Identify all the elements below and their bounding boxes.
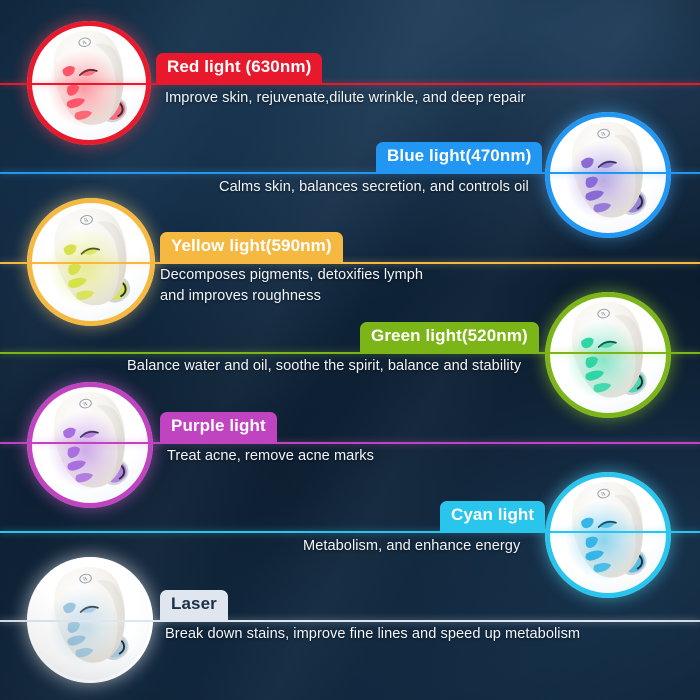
section-divider-yellow-light bbox=[0, 262, 700, 264]
mask-ring bbox=[27, 382, 153, 508]
light-label-purple-light: Purple light bbox=[160, 412, 277, 442]
mask-photo-cyan-light: ℞ bbox=[545, 472, 671, 598]
light-description-laser: Break down stains, improve fine lines an… bbox=[165, 624, 580, 645]
light-label-laser: Laser bbox=[160, 590, 228, 620]
section-divider-cyan-light bbox=[0, 531, 700, 533]
light-label-red-light: Red light (630nm) bbox=[156, 53, 322, 83]
light-label-blue-light: Blue light(470nm) bbox=[376, 142, 542, 172]
light-description-purple-light: Treat acne, remove acne marks bbox=[167, 446, 374, 467]
section-divider-laser bbox=[0, 620, 700, 622]
light-label-cyan-light: Cyan light bbox=[440, 501, 545, 531]
section-divider-red-light bbox=[0, 83, 700, 85]
section-divider-purple-light bbox=[0, 442, 700, 444]
section-divider-green-light bbox=[0, 352, 700, 354]
mask-ring bbox=[545, 472, 671, 598]
light-description-yellow-light: Decomposes pigments, detoxifies lymph an… bbox=[160, 265, 423, 306]
light-description-red-light: Improve skin, rejuvenate,dilute wrinkle,… bbox=[165, 88, 526, 109]
light-description-blue-light: Calms skin, balances secretion, and cont… bbox=[219, 177, 529, 198]
mask-ring bbox=[545, 292, 671, 418]
light-description-green-light: Balance water and oil, soothe the spirit… bbox=[127, 356, 521, 377]
light-description-cyan-light: Metabolism, and enhance energy bbox=[303, 536, 520, 557]
mask-photo-blue-light: ℞ bbox=[545, 112, 671, 238]
mask-ring bbox=[545, 112, 671, 238]
mask-photo-purple-light: ℞ bbox=[27, 382, 153, 508]
light-label-green-light: Green light(520nm) bbox=[360, 322, 539, 352]
light-label-yellow-light: Yellow light(590nm) bbox=[160, 232, 343, 262]
infographic-canvas: ℞ Red light (630nm)Improve skin, rejuven… bbox=[0, 0, 700, 700]
mask-photo-green-light: ℞ bbox=[545, 292, 671, 418]
section-divider-blue-light bbox=[0, 172, 700, 174]
